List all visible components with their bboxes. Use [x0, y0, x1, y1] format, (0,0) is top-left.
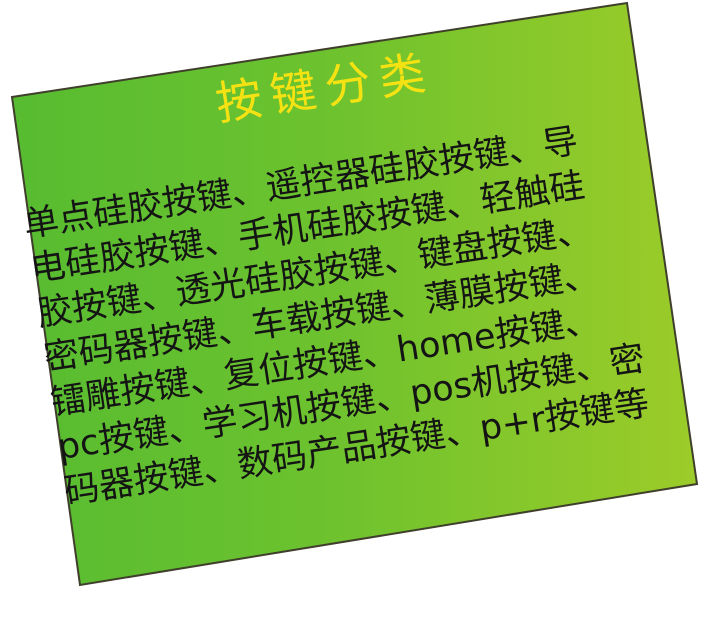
banner-canvas: 按键分类 单点硅胶按键、遥控器硅胶按键、导 电硅胶按键、手机硅胶按键、轻触硅 胶…	[0, 0, 704, 588]
banner-body-text: 单点硅胶按键、遥控器硅胶按键、导 电硅胶按键、手机硅胶按键、轻触硅 胶按键、透光…	[21, 110, 683, 515]
banner-text-layer: 按键分类 单点硅胶按键、遥控器硅胶按键、导 电硅胶按键、手机硅胶按键、轻触硅 胶…	[0, 0, 704, 638]
